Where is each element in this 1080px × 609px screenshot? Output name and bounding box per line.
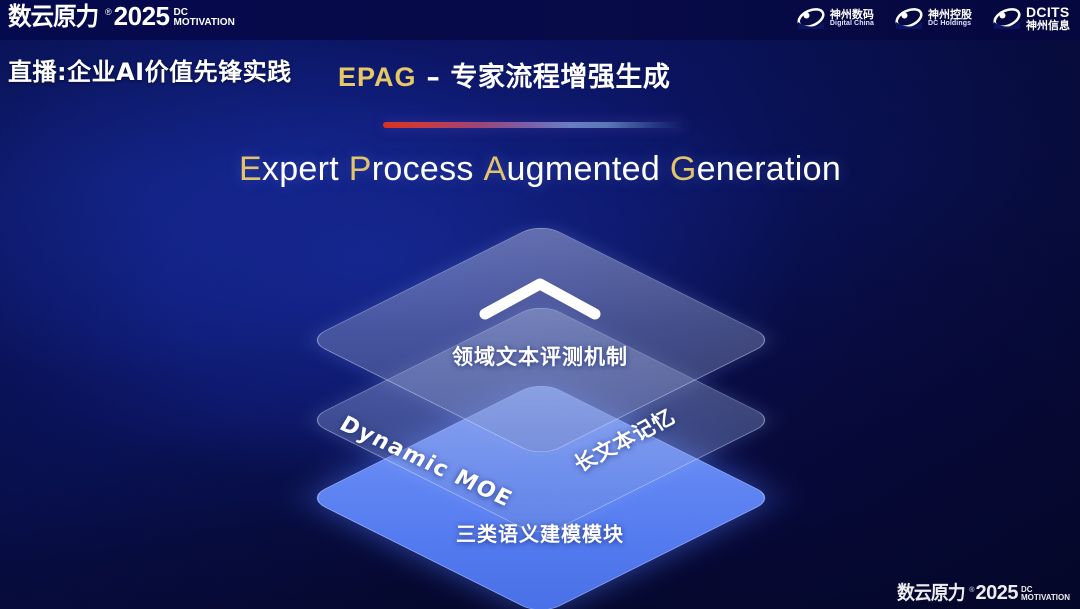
subtitle-cap-p: P [349, 150, 372, 188]
presentation-slide: 数云原力 ® 2025 DC MOTIVATION 直播:企业AI价值先锋实践 … [0, 0, 1080, 609]
subtitle-rest-augmented: ugmented [506, 150, 660, 188]
title-acronym: EPAG [338, 62, 417, 92]
title-separator: – [417, 62, 451, 93]
slide-title: EPAG – 专家流程增强生成 [338, 55, 670, 94]
partner-logo-dcits: DCITS 神州信息 [992, 5, 1070, 31]
partner-label: 神州控股 DC Holdings [928, 9, 972, 28]
partner-name-cn: 神州控股 [928, 9, 972, 21]
subtitle-cap-e: E [239, 150, 262, 188]
subtitle-cap-a: A [483, 150, 506, 188]
swoosh-logo-icon [796, 7, 826, 29]
title-chinese: 专家流程增强生成 [450, 62, 670, 93]
brand-year: 2025 [114, 3, 170, 29]
brand-dc-line2: MOTIVATION [1021, 594, 1070, 602]
brand-dc-motivation: DC MOTIVATION [174, 8, 235, 28]
subtitle-cap-g: G [670, 150, 697, 188]
partner-label: DCITS 神州信息 [1026, 5, 1070, 31]
partner-label: 神州数码 Digital China [830, 9, 874, 28]
subtitle-rest-generation: eneration [697, 150, 841, 188]
brand-logo-bottom-right: 数云原力 ® 2025 DC MOTIVATION [897, 583, 1070, 603]
layered-architecture-diagram: 领域文本评测机制 Dynamic MOE 长文本记忆 三类语义建模模块 [280, 232, 800, 572]
brand-name-cn: 数云原力 [897, 584, 965, 603]
partner-name-cn: 神州数码 [830, 9, 874, 21]
registered-mark: ® [105, 8, 112, 17]
brand-logo-top-left: 数云原力 ® 2025 DC MOTIVATION [8, 3, 235, 29]
partner-name-en: Digital China [830, 20, 874, 27]
subtitle-rest-expert: xpert [262, 150, 339, 188]
brand-dc-motivation: DC MOTIVATION [1021, 586, 1070, 602]
brand-year: 2025 [975, 583, 1018, 603]
partner-name-en: DC Holdings [928, 20, 972, 27]
swoosh-logo-icon [894, 7, 924, 29]
partner-logo-digital-china: 神州数码 Digital China [796, 7, 874, 29]
partner-logo-dc-holdings: 神州控股 DC Holdings [894, 7, 972, 29]
registered-mark: ® [969, 587, 974, 594]
partner-logo-group: 神州数码 Digital China 神州控股 DC Holdings [796, 5, 1070, 31]
title-divider [383, 122, 685, 128]
partner-name-cn: 神州信息 [1026, 20, 1070, 32]
brand-name-cn: 数云原力 [8, 4, 98, 29]
partner-name-en: DCITS [1026, 5, 1070, 20]
slide-subtitle: Expert Process Augmented Generation [0, 150, 1080, 189]
swoosh-logo-icon [992, 7, 1022, 29]
subtitle-rest-process: rocess [372, 150, 474, 188]
live-broadcast-banner: 直播:企业AI价值先锋实践 [8, 52, 292, 87]
brand-dc-line2: MOTIVATION [174, 18, 235, 28]
